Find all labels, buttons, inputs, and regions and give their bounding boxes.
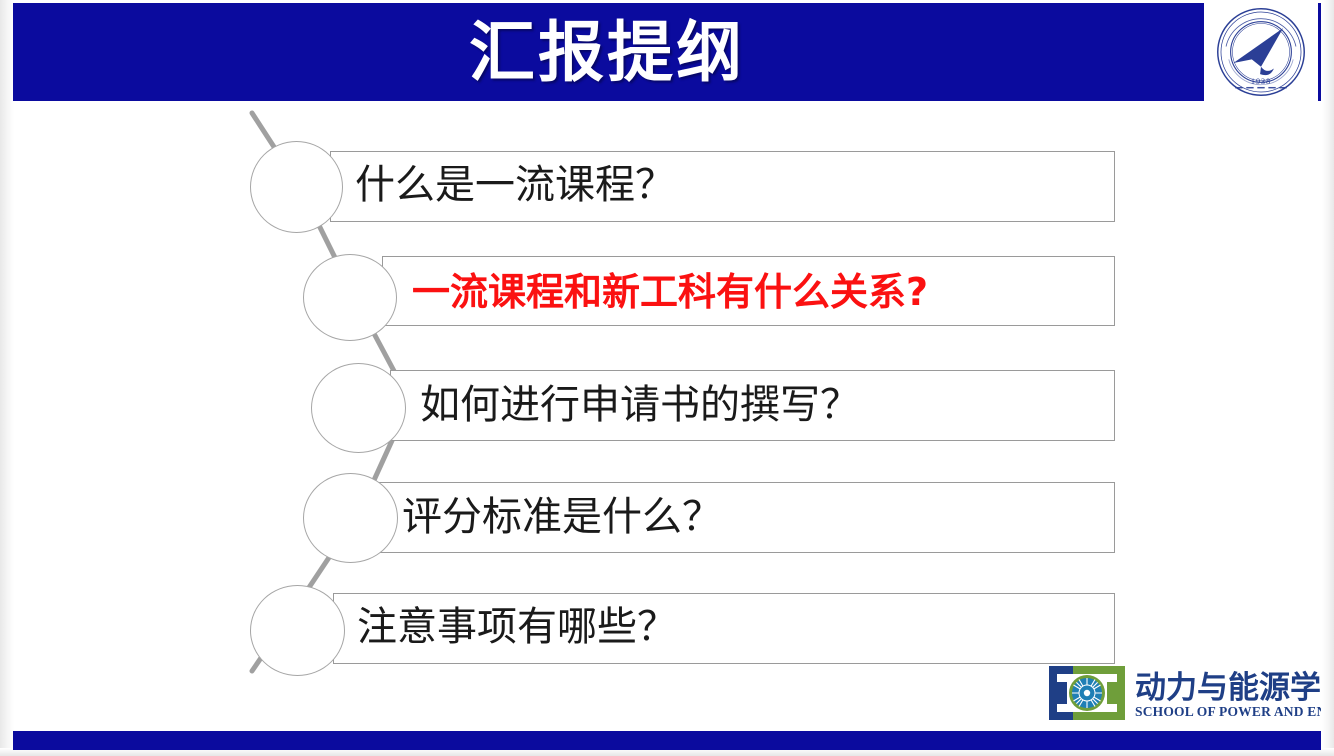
item-bullet-circle[interactable] [311, 363, 406, 453]
item-label: 评分标准是什么？ [402, 497, 722, 537]
item-bullet-circle[interactable] [250, 585, 345, 676]
school-logo-chinese: 动力与能源学院 [1135, 670, 1321, 706]
outline-diagram: 什么是一流课程？ 一流课程和新工科有什么关系? 如何进行申请书的撰写？ 评分标准… [0, 101, 1334, 701]
item-label: 什么是一流课程？ [355, 165, 675, 205]
university-seal-logo: 1938 [1204, 3, 1318, 101]
university-seal-icon: 1938 [1213, 6, 1309, 98]
item-bullet-circle[interactable] [303, 254, 397, 341]
item-label: 注意事项有哪些？ [357, 607, 677, 647]
footer-band [13, 731, 1321, 750]
page-title: 汇报提纲 [13, 3, 1321, 101]
item-label: 如何进行申请书的撰写？ [420, 385, 860, 425]
item-bullet-circle[interactable] [303, 473, 398, 563]
item-bullet-circle[interactable] [250, 141, 343, 233]
school-logo: 动力与能源学院 SCHOOL OF POWER AND ENERGY [1043, 662, 1321, 724]
slide-canvas: 汇报提纲 1938 [0, 0, 1334, 756]
school-of-power-and-energy-icon: 动力与能源学院 SCHOOL OF POWER AND ENERGY [1043, 662, 1321, 724]
school-logo-english: SCHOOL OF POWER AND ENERGY [1135, 704, 1321, 719]
item-label: 一流课程和新工科有什么关系? [412, 273, 928, 311]
svg-text:1938: 1938 [1251, 77, 1271, 86]
